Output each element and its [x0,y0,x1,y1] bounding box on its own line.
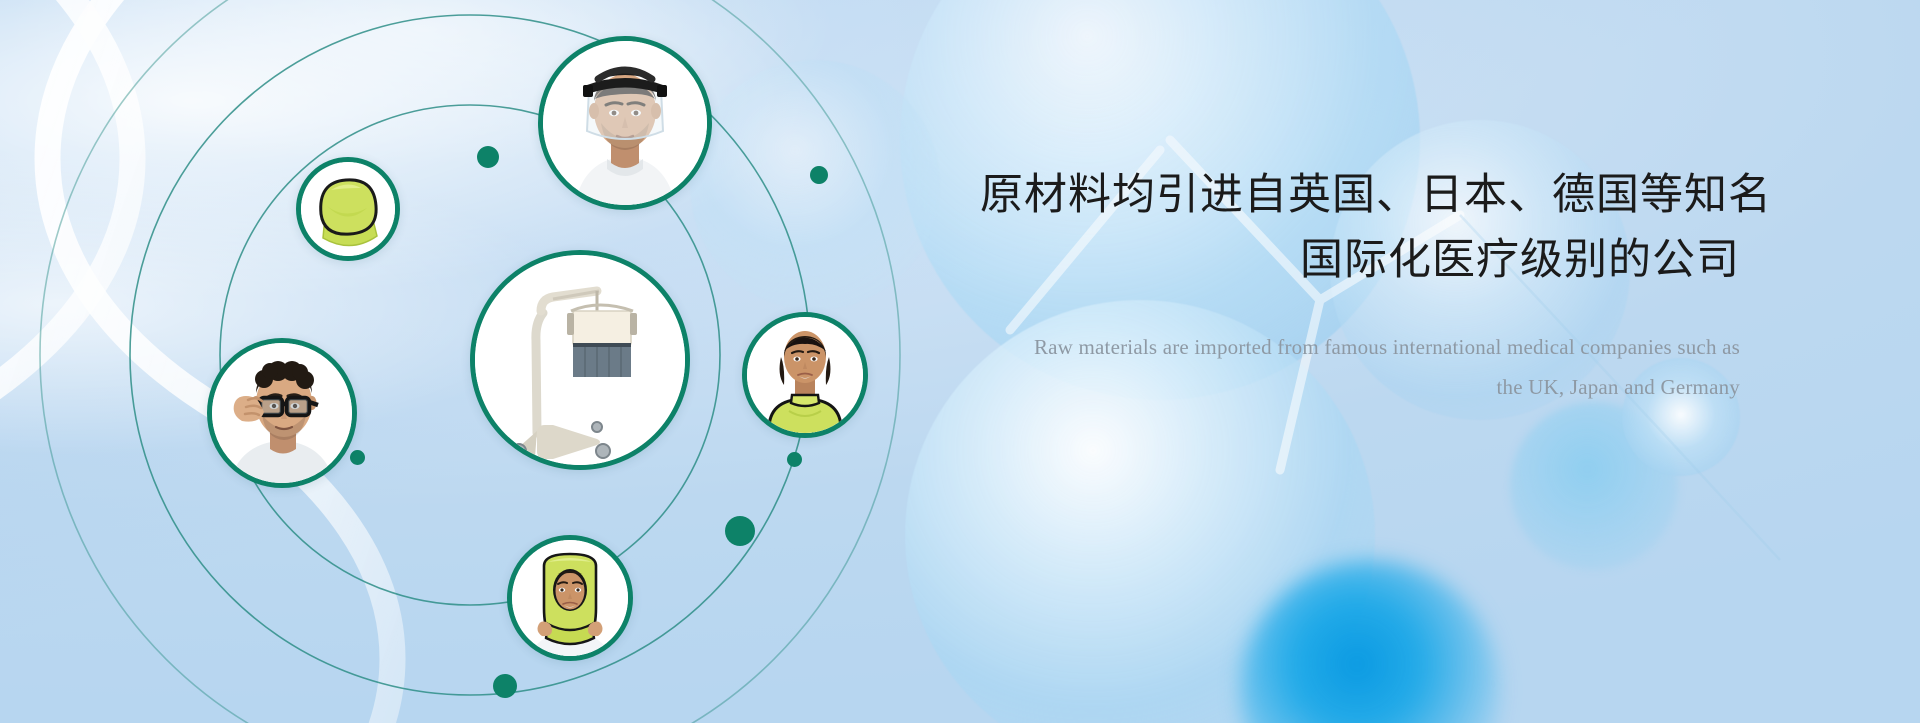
bubble-woman-with-thyroid-collar[interactable] [742,312,868,438]
bubble-mobile-x-ray-barrier[interactable] [470,250,690,470]
orbit-dot-4 [787,452,802,467]
orbit-dot-1 [477,146,499,168]
orbit-dot-3 [350,450,365,465]
bubble-man-with-face-shield[interactable] [538,36,712,210]
mobile-x-ray-barrier-icon [475,255,685,465]
orbit-dot-5 [725,516,755,546]
man-with-face-shield-icon [543,41,707,205]
bubble-lead-protective-cap[interactable] [296,157,400,261]
banner-stage: 原材料均引进自英国、日本、德国等知名 国际化医疗级别的公司 Raw materi… [0,0,1920,723]
woman-with-protective-hood-icon [512,540,628,656]
headline-line-1: 原材料均引进自英国、日本、德国等知名 [980,165,1740,226]
bubble-woman-with-protective-hood[interactable] [507,535,633,661]
subtitle-line-2: the UK, Japan and Germany [980,367,1740,407]
orbit-dot-6 [493,674,517,698]
orbit-dot-2 [810,166,828,184]
banner-text-block: 原材料均引进自英国、日本、德国等知名 国际化医疗级别的公司 Raw materi… [980,165,1740,408]
subtitle-line-1: Raw materials are imported from famous i… [980,327,1740,367]
woman-with-thyroid-collar-icon [747,317,863,433]
lead-protective-cap-icon [301,162,395,256]
headline-line-2: 国际化医疗级别的公司 [980,230,1740,291]
man-with-lead-glasses-icon [212,343,352,483]
bubble-man-with-lead-glasses[interactable] [207,338,357,488]
